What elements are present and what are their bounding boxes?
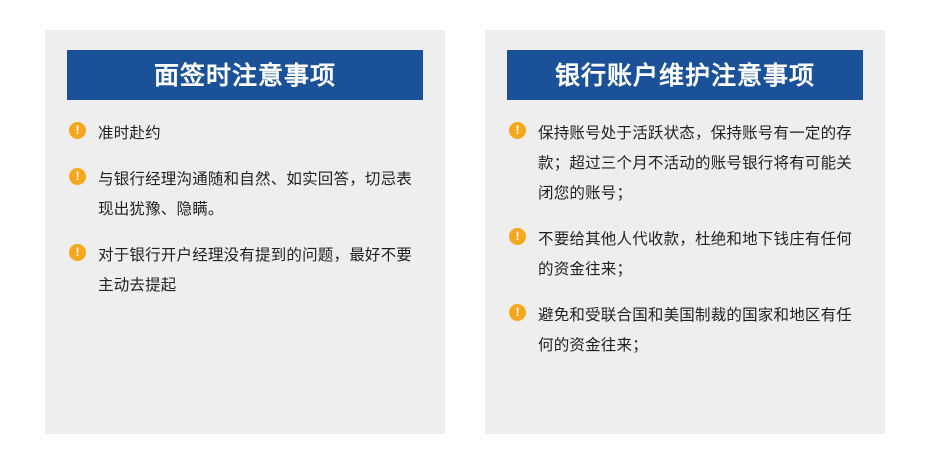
list-item: ! 不要给其他人代收款，杜绝和地下钱庄有任何的资金往来； (509, 224, 859, 284)
exclamation-icon: ! (509, 122, 526, 139)
list-item-text: 保持账号处于活跃状态，保持账号有一定的存款；超过三个月不活动的账号银行将有可能关… (538, 118, 859, 208)
notice-board: 面签时注意事项 ! 准时赴约 ! 与银行经理沟通随和自然、如实回答，切忌表现出犹… (0, 0, 930, 464)
panel-header-account: 银行账户维护注意事项 (507, 50, 863, 100)
list-item-text: 对于银行开户经理没有提到的问题，最好不要主动去提起 (98, 240, 418, 300)
list-item: ! 避免和受联合国和美国制裁的国家和地区有任何的资金往来； (509, 300, 859, 360)
exclamation-icon: ! (69, 122, 86, 139)
list-item: ! 保持账号处于活跃状态，保持账号有一定的存款；超过三个月不活动的账号银行将有可… (509, 118, 859, 208)
list-item: ! 准时赴约 (69, 118, 419, 148)
exclamation-icon: ! (509, 228, 526, 245)
exclamation-icon: ! (69, 244, 86, 261)
panel-body-account: ! 保持账号处于活跃状态，保持账号有一定的存款；超过三个月不活动的账号银行将有可… (509, 118, 859, 360)
panel-body-interview: ! 准时赴约 ! 与银行经理沟通随和自然、如实回答，切忌表现出犹豫、隐瞒。 ! … (69, 118, 419, 300)
list-item-text: 准时赴约 (98, 118, 161, 148)
panel-account-maintenance-notes: 银行账户维护注意事项 ! 保持账号处于活跃状态，保持账号有一定的存款；超过三个月… (485, 30, 885, 434)
list-item-text: 避免和受联合国和美国制裁的国家和地区有任何的资金往来； (538, 300, 859, 360)
list-item-text: 不要给其他人代收款，杜绝和地下钱庄有任何的资金往来； (538, 224, 859, 284)
list-item: ! 与银行经理沟通随和自然、如实回答，切忌表现出犹豫、隐瞒。 (69, 164, 419, 224)
exclamation-icon: ! (509, 304, 526, 321)
panel-interview-notes: 面签时注意事项 ! 准时赴约 ! 与银行经理沟通随和自然、如实回答，切忌表现出犹… (45, 30, 445, 434)
panel-header-interview: 面签时注意事项 (67, 50, 423, 100)
panel-title-interview: 面签时注意事项 (154, 63, 336, 88)
panel-title-account: 银行账户维护注意事项 (555, 63, 815, 88)
list-item-text: 与银行经理沟通随和自然、如实回答，切忌表现出犹豫、隐瞒。 (98, 164, 418, 224)
list-item: ! 对于银行开户经理没有提到的问题，最好不要主动去提起 (69, 240, 419, 300)
exclamation-icon: ! (69, 168, 86, 185)
